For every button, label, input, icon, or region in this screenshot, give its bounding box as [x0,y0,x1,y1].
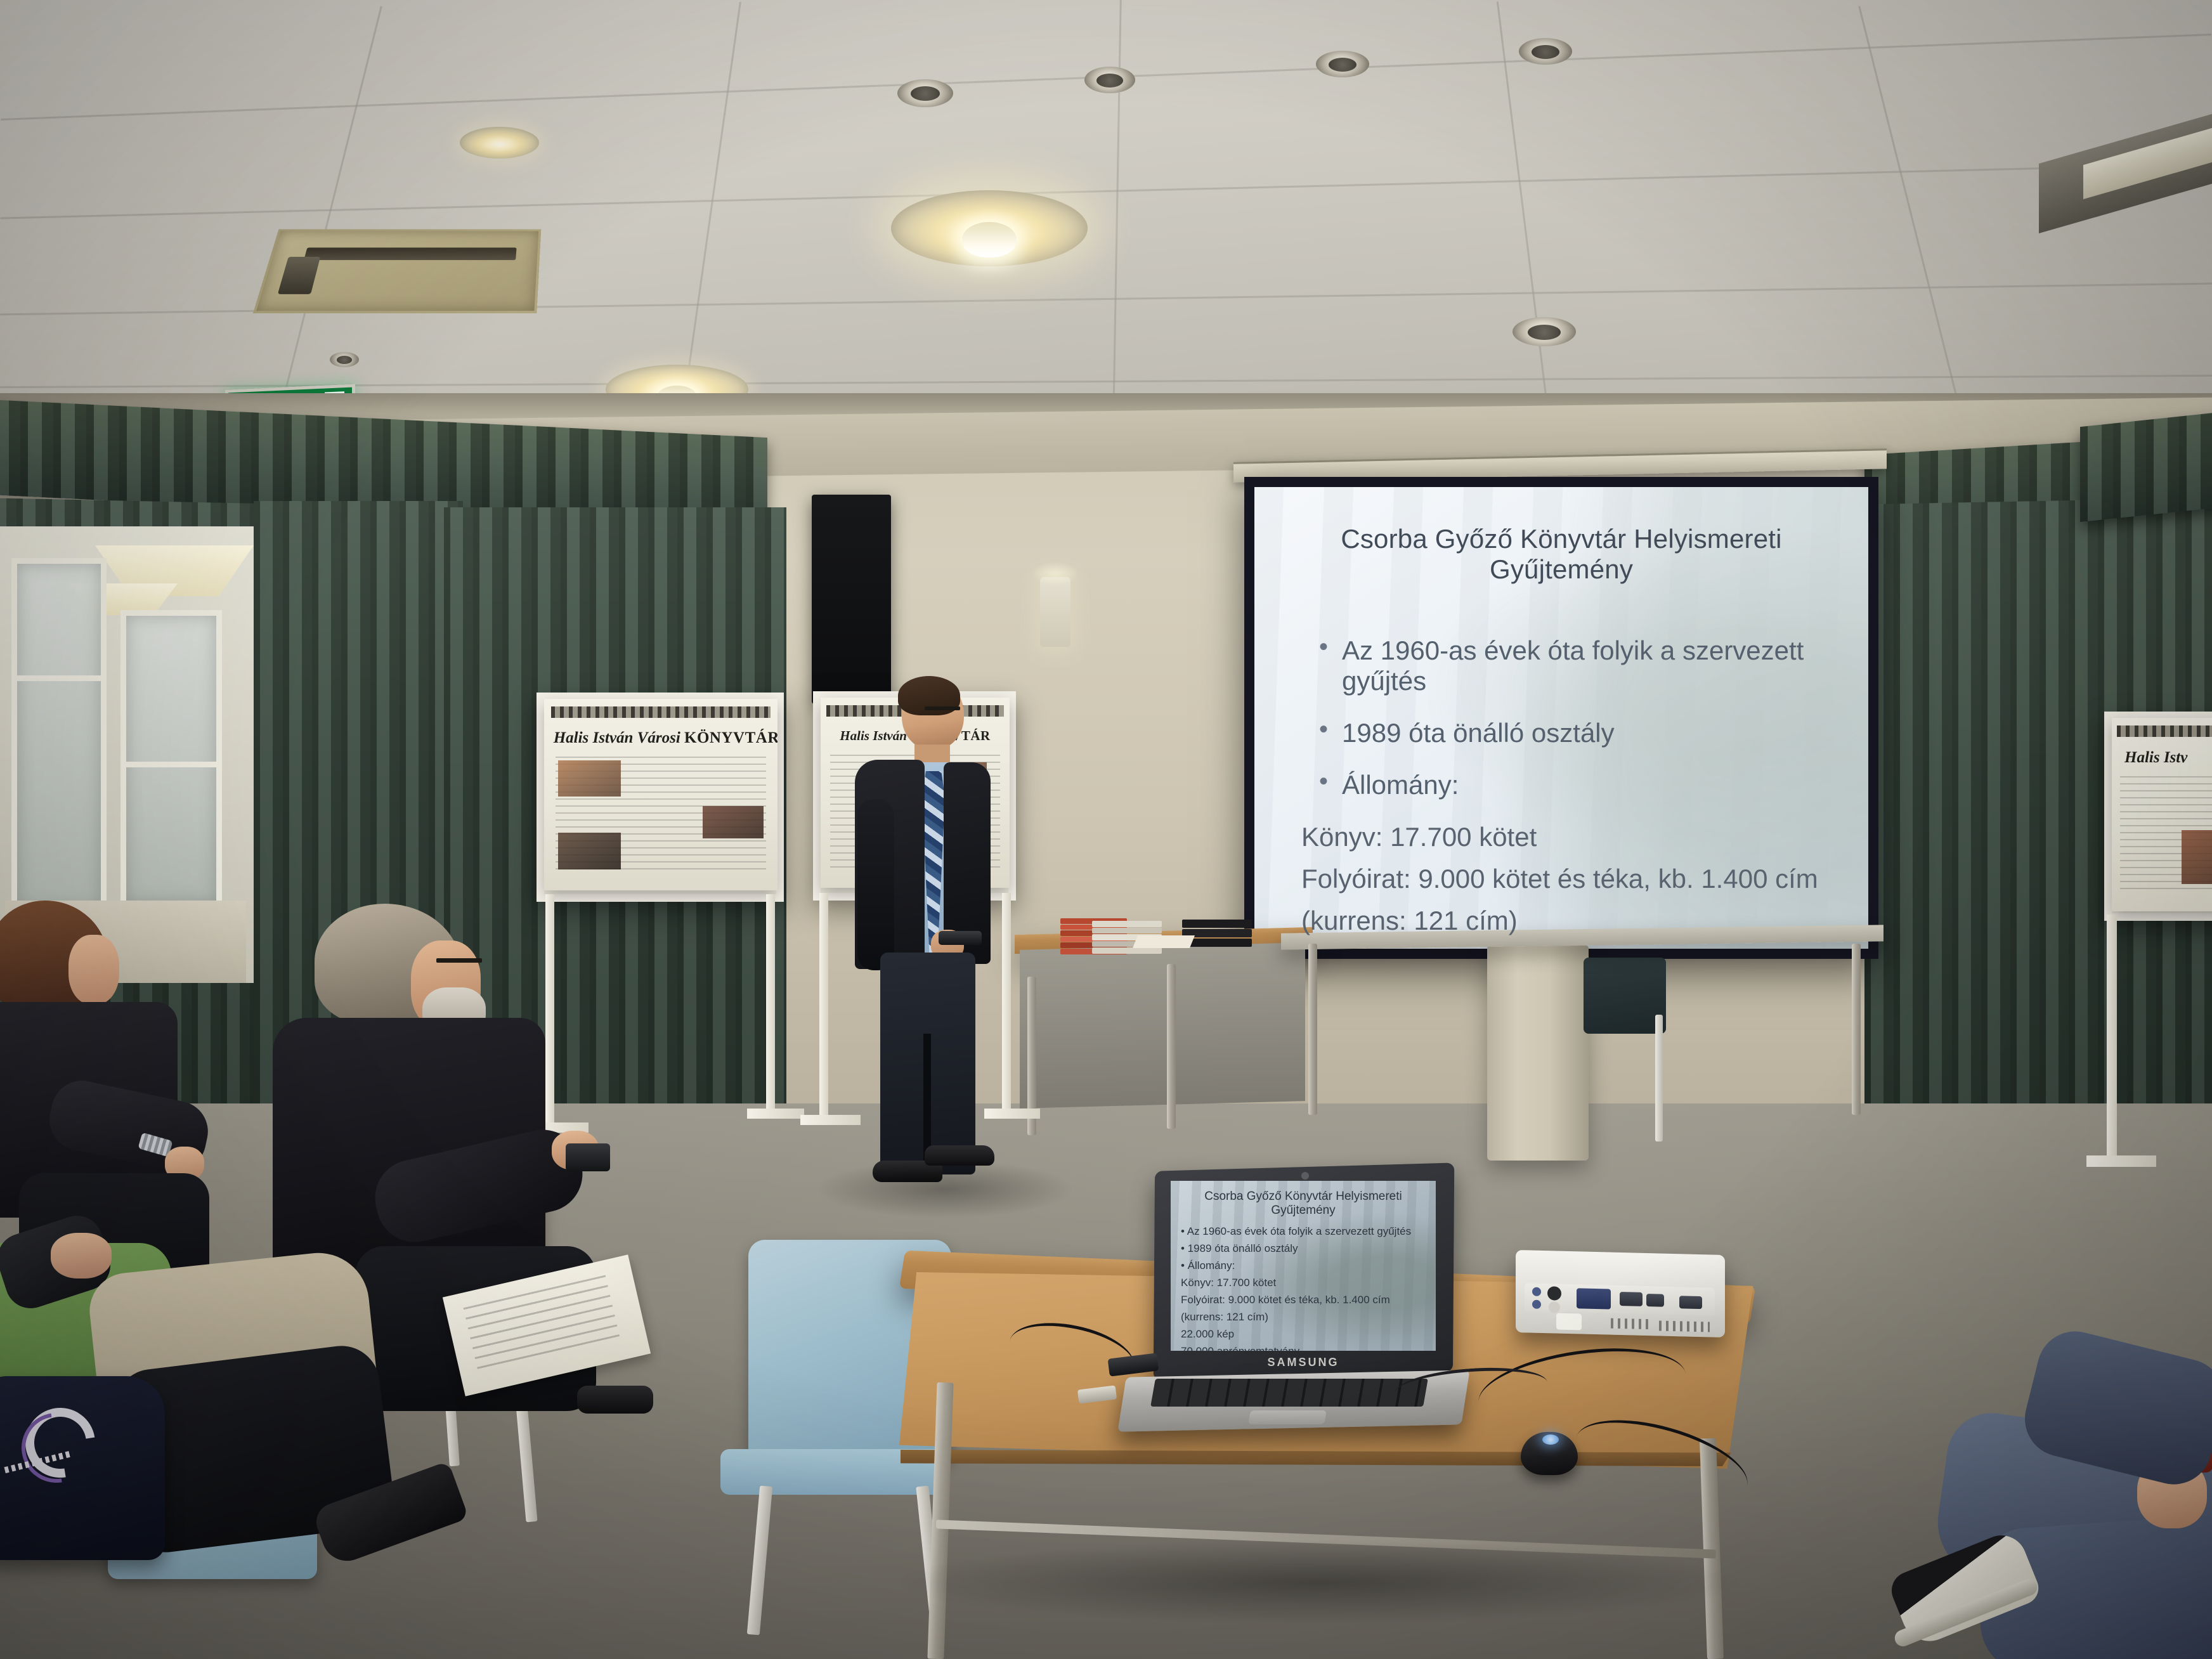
projector-vga-port[interactable] [1577,1288,1611,1309]
poster-title-caps: KÖNYVTÁR [684,729,777,746]
slide-title: Csorba Győző Könyvtár Helyismereti Gyűjt… [1299,524,1824,585]
ceiling-downlight [460,127,539,159]
projector [1516,1250,1725,1337]
poster-photo [703,806,764,838]
audience-shoe [577,1386,653,1414]
projector-audio-jack[interactable] [1532,1287,1541,1296]
poster-photo [2182,830,2212,884]
ceiling-spotlight [1519,38,1572,65]
poster-board-foot [2086,1155,2156,1167]
poster-board-leg [1002,893,1011,1115]
paper-sheet [1133,935,1195,948]
poster-board-foot [984,1109,1040,1119]
poster-title-italic: Halis Istv [2124,749,2187,766]
slide-line: 22.000 kép [1301,947,1824,949]
slide-line: Könyv: 17.700 kötet [1301,822,1824,852]
lobby-glass-panel [120,610,222,908]
laptop-slide-line: Folyóirat: 9.000 kötet és téka, kb. 1.40… [1181,1294,1426,1306]
laptop-screen[interactable]: Csorba Győző Könyvtár Helyismereti Gyűjt… [1171,1181,1436,1351]
projection-screen-surface: Csorba Győző Könyvtár Helyismereti Gyűjt… [1254,487,1868,949]
laptop-keyboard[interactable] [1150,1379,1428,1407]
poster-right: Halis Istv [2112,718,2212,911]
ceiling-spotlight [330,352,359,367]
slide-bullet: 1989 óta önálló osztály [1315,718,1824,748]
ceiling-hvac-vent [253,229,541,313]
concrete-column [1487,945,1589,1161]
projector-port[interactable] [1620,1292,1643,1306]
floor-shadow [901,1541,1738,1623]
audience-device[interactable] [566,1143,610,1171]
presenter [843,679,989,1199]
laptop-slide-line: • Állomány: [1181,1259,1426,1272]
presenter-glasses-icon [925,706,960,710]
laptop-slide-line: Könyv: 17.700 kötet [1181,1277,1426,1289]
floor-shadow [818,1161,1072,1218]
slide-bullet: Állomány: [1315,770,1824,800]
projection-screen-frame: Csorba Győző Könyvtár Helyismereti Gyűjt… [1244,477,1878,959]
presentation-room-scene: emergency-exit-running-man-down-arrow Cs… [0,0,2212,1659]
ceiling-spotlight [1084,67,1135,93]
audience-hand [51,1233,112,1278]
laptop-slide-line: (kurrens: 121 cím) [1181,1311,1426,1324]
projector-sv-jack[interactable] [1547,1286,1561,1301]
lobby-glass-door[interactable] [11,558,107,913]
presenter-arm [857,799,894,970]
curtain-valance-right-far [2080,410,2212,522]
presenter-remote[interactable] [939,931,982,945]
poster-photo [558,760,621,797]
projector-rca-jack[interactable] [1549,1301,1560,1313]
slide-bullet: Az 1960-as évek óta folyik a szervezett … [1315,635,1824,696]
screen-table-leg [1852,944,1861,1115]
ceiling-spotlight [1316,51,1369,77]
projector-vent [1611,1318,1649,1329]
ceiling-downlight [891,190,1088,266]
projector-port[interactable] [1646,1294,1664,1307]
projector-foot [1556,1313,1582,1330]
poster-left: Halis István Városi KÖNYVTÁR [544,699,777,890]
laptop-webcam-icon [1301,1172,1309,1180]
ceiling-spotlight [1513,317,1576,346]
poster-title-right: Halis Istv [2124,749,2212,767]
slide-content: Csorba Győző Könyvtár Helyismereti Gyűjt… [1254,487,1868,949]
side-table-skirt [1020,942,1305,1109]
wall-speaker [812,495,891,704]
poster-title-italic: Halis István Városi [554,729,680,746]
mouse-led-indicator [1542,1435,1559,1445]
laptop-slide-line: • 1989 óta önálló osztály [1181,1242,1426,1255]
laptop-slide-title: Csorba Győző Könyvtár Helyismereti Gyűjt… [1181,1190,1426,1218]
poster-board-leg [2107,914,2117,1162]
dark-chair-back [1584,958,1666,1034]
poster-board-leg [819,893,828,1121]
ceiling-spotlight [897,79,953,107]
slide-line: Folyóirat: 9.000 kötet és téka, kb. 1.40… [1301,864,1824,894]
poster-board-leg [766,894,775,1116]
projector-audio-jack[interactable] [1532,1300,1541,1309]
screen-table-leg [1308,944,1317,1115]
audience-glasses-icon [436,958,482,963]
poster-photo [558,833,621,869]
laptop-touchpad[interactable] [1248,1410,1327,1424]
laptop-brand-logo: SAMSUNG [1224,1356,1382,1369]
laptop-slide-line: 22.000 kép [1181,1328,1426,1341]
audience-face [68,935,119,1005]
projector-port[interactable] [1679,1296,1702,1309]
slide-line: (kurrens: 121 cím) [1301,906,1824,936]
poster-board-foot [747,1109,804,1119]
wall-sconce-lamp [1040,577,1070,647]
laptop-slide-line: • Az 1960-as évek óta folyik a szervezet… [1181,1225,1426,1238]
projector-vent [1659,1320,1710,1332]
side-table-leg [1167,964,1176,1129]
laptop-slide-line: 70.000 aprónyomtatvány [1181,1345,1426,1351]
poster-title-left: Halis István Városi KÖNYVTÁR [554,729,769,747]
dark-chair-leg [1655,1015,1663,1142]
